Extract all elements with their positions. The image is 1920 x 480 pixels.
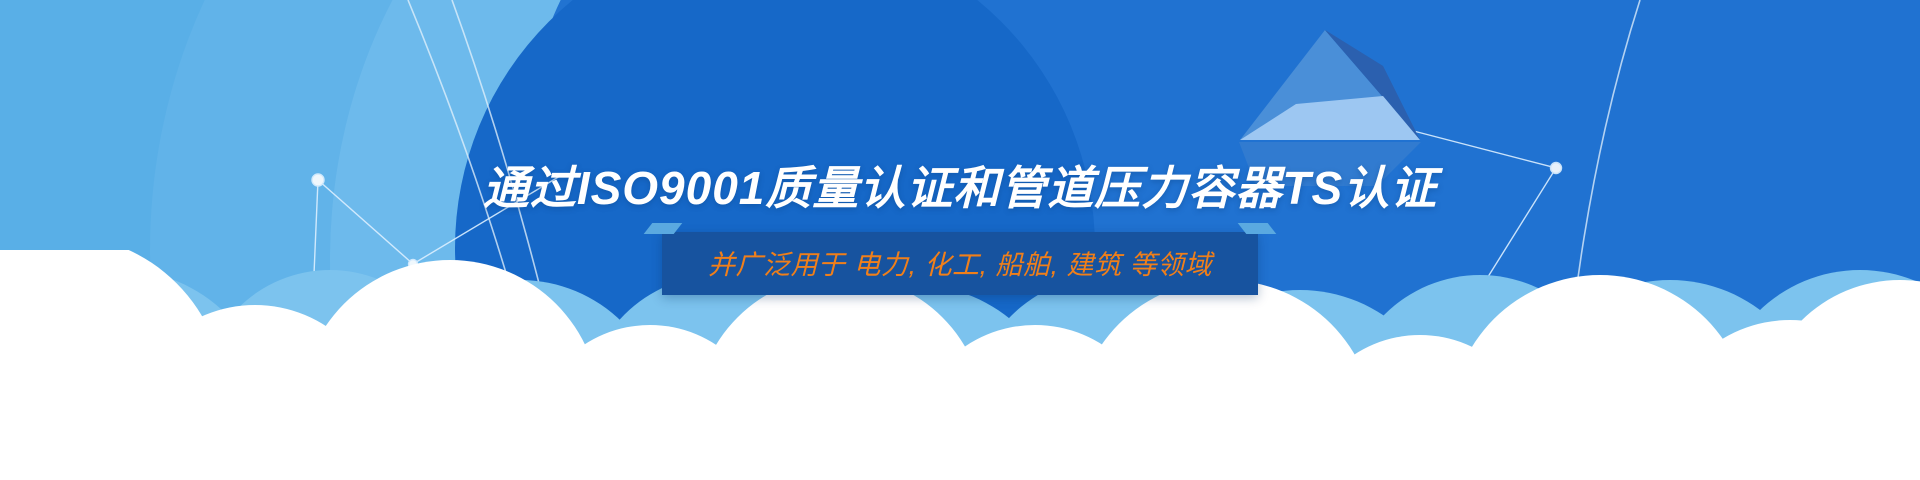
subtitle-text: 并广泛用于 电力, 化工, 船舶, 建筑 等领域 [708,250,1212,280]
subtitle-bar-wrapper: 并广泛用于 电力, 化工, 船舶, 建筑 等领域 [0,232,1920,295]
subtitle-bar: 并广泛用于 电力, 化工, 船舶, 建筑 等领域 [662,232,1258,295]
banner-text-block: 通过ISO9001质量认证和管道压力容器TS认证 并广泛用于 电力, 化工, 船… [0,0,1920,480]
page-title: 通过ISO9001质量认证和管道压力容器TS认证 [0,152,1920,218]
promo-banner: 通过ISO9001质量认证和管道压力容器TS认证 并广泛用于 电力, 化工, 船… [0,0,1920,480]
